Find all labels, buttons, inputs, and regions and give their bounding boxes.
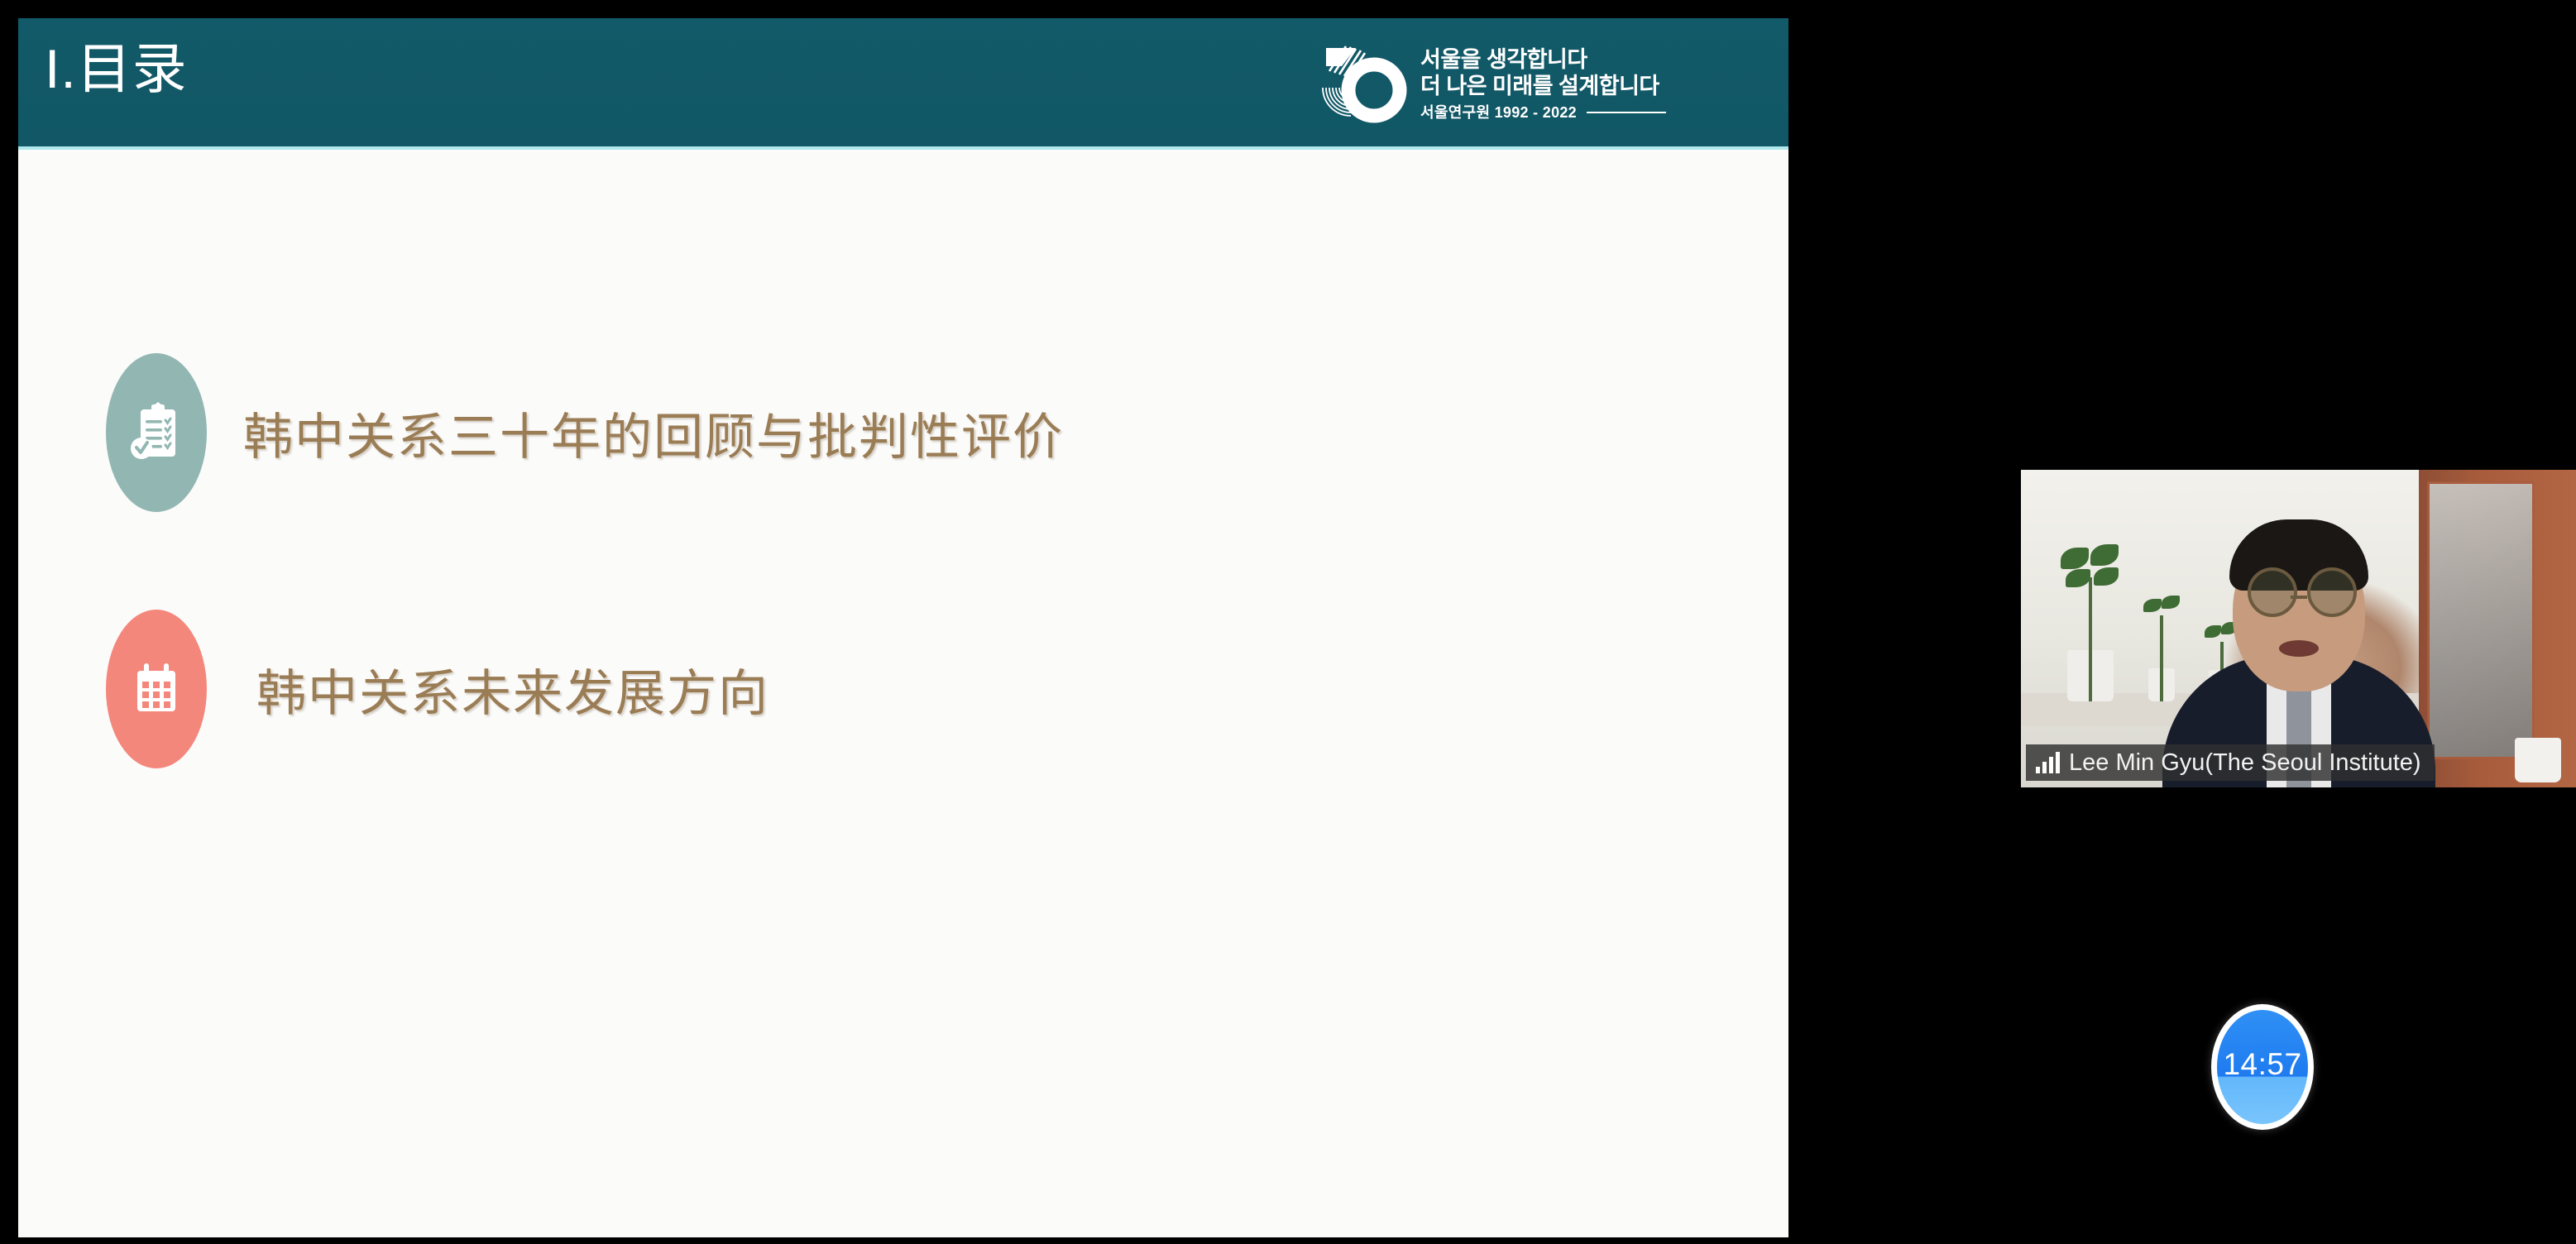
agenda-list: 韩中关系三十年的回顾与批判性评价 (18, 146, 1788, 1237)
video-feed (2021, 470, 2576, 787)
plant (2057, 544, 2124, 701)
cabinet (2419, 470, 2576, 787)
meeting-stage: I.目录 (0, 0, 2576, 1244)
logo-subtitle: 서울연구원 1992 - 2022 (1420, 104, 1577, 122)
logo-subtitle-row: 서울연구원 1992 - 2022 (1420, 104, 1666, 122)
calendar-icon (130, 660, 183, 718)
clipboard-checklist-icon (129, 402, 184, 463)
participant-mouth (2279, 640, 2319, 657)
agenda-item-label: 韩中关系三十年的回顾与批判性评价 (243, 397, 1064, 469)
logo-tagline-line2: 더 나은 미래를 설계합니다 (1420, 74, 1666, 100)
participant-glasses-left (2248, 567, 2297, 617)
participant-glasses-right (2307, 567, 2357, 617)
cabinet-glass (2427, 481, 2535, 759)
seoul-institute-30th-anniversary-logo-icon (1314, 38, 1407, 131)
logo-rule (1587, 112, 1666, 113)
participant-name-label: Lee Min Gyu(The Seoul Institute) (2069, 749, 2421, 777)
logo-text-block: 서울을 생각합니다 더 나은 미래를 설계합니다 서울연구원 1992 - 20… (1420, 47, 1666, 122)
agenda-bullet-2 (106, 610, 207, 768)
meeting-timer-badge[interactable]: 14:57 (2211, 1004, 2314, 1130)
audio-signal-bars-icon (2036, 752, 2060, 773)
participant-name-bar: Lee Min Gyu(The Seoul Institute) (2026, 744, 2435, 781)
list-item[interactable]: 韩中关系未来发展方向 (106, 610, 769, 768)
shared-screen-slide[interactable]: I.目录 (18, 18, 1788, 1237)
agenda-item-label: 韩中关系未来发展方向 (256, 653, 769, 725)
logo-tagline-line1: 서울을 생각합니다 (1420, 47, 1666, 74)
agenda-bullet-1 (106, 353, 207, 512)
meeting-timer-text: 14:57 (2223, 1047, 2301, 1082)
institute-logo-lockup: 서울을 생각합니다 더 나은 미래를 설계합니다 서울연구원 1992 - 20… (1314, 33, 1666, 136)
page-title: I.目录 (45, 38, 188, 101)
participant-video-tile[interactable]: Lee Min Gyu(The Seoul Institute) (2021, 470, 2576, 787)
pen-holder (2515, 738, 2561, 782)
plant (2142, 594, 2181, 701)
participant-glasses-bridge (2291, 596, 2307, 599)
list-item[interactable]: 韩中关系三十年的回顾与批判性评价 (106, 353, 1064, 512)
